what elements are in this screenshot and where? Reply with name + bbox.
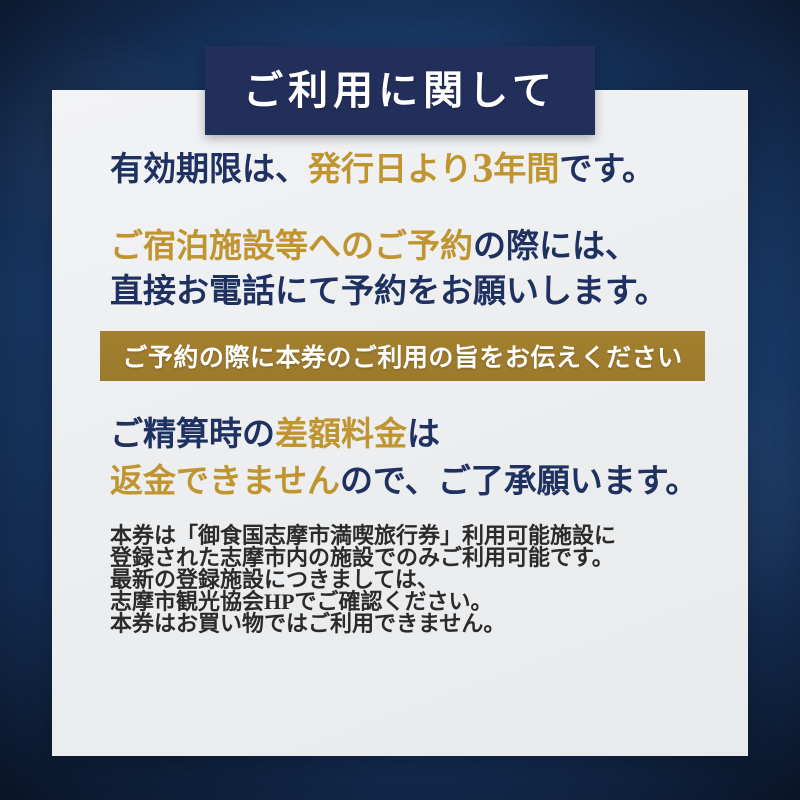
fineprint-line: 登録された志摩市内の施設でのみご利用可能です。 bbox=[110, 547, 748, 569]
settlement-navy-lead: ご精算時の bbox=[110, 417, 275, 453]
settlement-navy-closing: ので、ご了承願います。 bbox=[340, 464, 698, 500]
reservation-line-2: 直接お電話にて予約をお願いします。 bbox=[110, 276, 748, 309]
reservation-block: ご宿泊施設等へのご予約の際には、 直接お電話にて予約をお願いします。 bbox=[110, 231, 748, 309]
expiry-gold-number: 3 bbox=[472, 146, 493, 192]
reservation-gold-text: ご宿泊施設等へのご予約 bbox=[110, 229, 473, 265]
settlement-line-1: ご精算時の差額料金は bbox=[110, 419, 748, 452]
settlement-block: ご精算時の差額料金は 返金できませんので、ご了承願います。 bbox=[110, 419, 748, 499]
info-card: 有効期限は、発行日より3年間です。 ご宿泊施設等へのご予約の際には、 直接お電話… bbox=[52, 90, 748, 756]
settlement-gold-text: 差額料金 bbox=[275, 417, 407, 453]
highlight-notice-bar: ご予約の際に本券のご利用の旨をお伝えください bbox=[100, 331, 705, 381]
fineprint-line: 志摩市観光協会HPでご確認ください。 bbox=[110, 591, 748, 613]
expiry-line: 有効期限は、発行日より3年間です。 bbox=[110, 153, 748, 187]
card-content: 有効期限は、発行日より3年間です。 ご宿泊施設等へのご予約の際には、 直接お電話… bbox=[52, 135, 748, 635]
title-banner: ご利用に関して bbox=[205, 46, 595, 135]
reservation-line-1: ご宿泊施設等へのご予約の際には、 bbox=[110, 231, 748, 264]
expiry-gold-prefix: 発行日より bbox=[308, 152, 472, 188]
settlement-gold-refund: 返金できません bbox=[110, 464, 340, 500]
fineprint-line: 本券はお買い物ではご利用できません。 bbox=[110, 613, 748, 635]
fineprint-block: 本券は「御食国志摩市満喫旅行券」利用可能施設に 登録された志摩市内の施設でのみご… bbox=[110, 525, 748, 635]
expiry-gold-suffix: 年間 bbox=[493, 152, 559, 188]
highlight-notice-text: ご予約の際に本券のご利用の旨をお伝えください bbox=[122, 338, 682, 374]
expiry-lead-text: 有効期限は、 bbox=[110, 152, 308, 188]
fineprint-line: 最新の登録施設につきましては、 bbox=[110, 569, 748, 591]
reservation-navy-text: の際には、 bbox=[473, 229, 638, 265]
fineprint-line: 本券は「御食国志摩市満喫旅行券」利用可能施設に bbox=[110, 525, 748, 547]
expiry-tail-text: です。 bbox=[559, 152, 655, 188]
settlement-navy-tail: は bbox=[407, 417, 440, 453]
settlement-line-2: 返金できませんので、ご了承願います。 bbox=[110, 466, 748, 499]
poster-root: 有効期限は、発行日より3年間です。 ご宿泊施設等へのご予約の際には、 直接お電話… bbox=[0, 0, 800, 800]
banner-title-text: ご利用に関して bbox=[243, 71, 557, 111]
